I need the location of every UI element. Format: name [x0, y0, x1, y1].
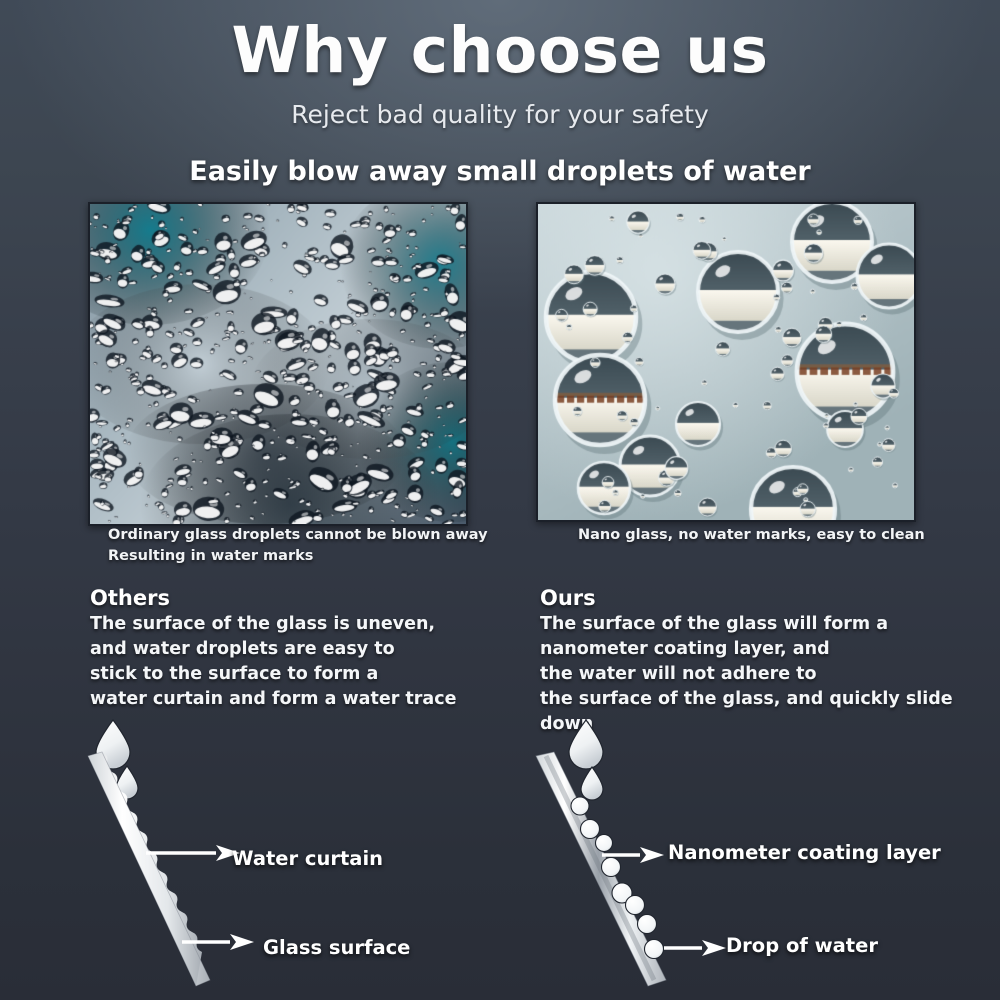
promo-poster: Why choose us Reject bad quality for you… — [0, 0, 1000, 1000]
water-drop-small-icon — [581, 767, 603, 800]
ordinary-glass-droplets-image — [90, 204, 466, 524]
page-title: Why choose us — [0, 16, 1000, 86]
nano-glass-droplets-image — [538, 204, 914, 520]
label-water-curtain: Water curtain — [232, 847, 383, 871]
others-description: The surface of the glass is uneven, and … — [90, 612, 520, 712]
ours-heading: Ours — [540, 585, 596, 611]
photo-ordinary-glass — [88, 202, 468, 526]
photo-nano-glass — [536, 202, 916, 522]
water-bead-icon — [571, 797, 664, 959]
page-subtitle: Reject bad quality for your safety — [0, 100, 1000, 130]
water-drop-icon — [569, 720, 603, 769]
others-heading: Others — [90, 585, 170, 611]
arrow-drop-of-water — [664, 940, 726, 956]
label-glass-surface: Glass surface — [263, 936, 410, 960]
section-heading: Easily blow away small droplets of water — [0, 156, 1000, 188]
caption-nano-glass: Nano glass, no water marks, easy to clea… — [578, 525, 978, 546]
label-drop-of-water: Drop of water — [726, 934, 878, 958]
caption-ordinary-glass: Ordinary glass droplets cannot be blown … — [108, 525, 508, 567]
label-nanometer-coating-layer: Nanometer coating layer — [668, 841, 941, 865]
glass-panel-uneven — [88, 752, 210, 986]
arrow-water-curtain — [146, 845, 240, 861]
